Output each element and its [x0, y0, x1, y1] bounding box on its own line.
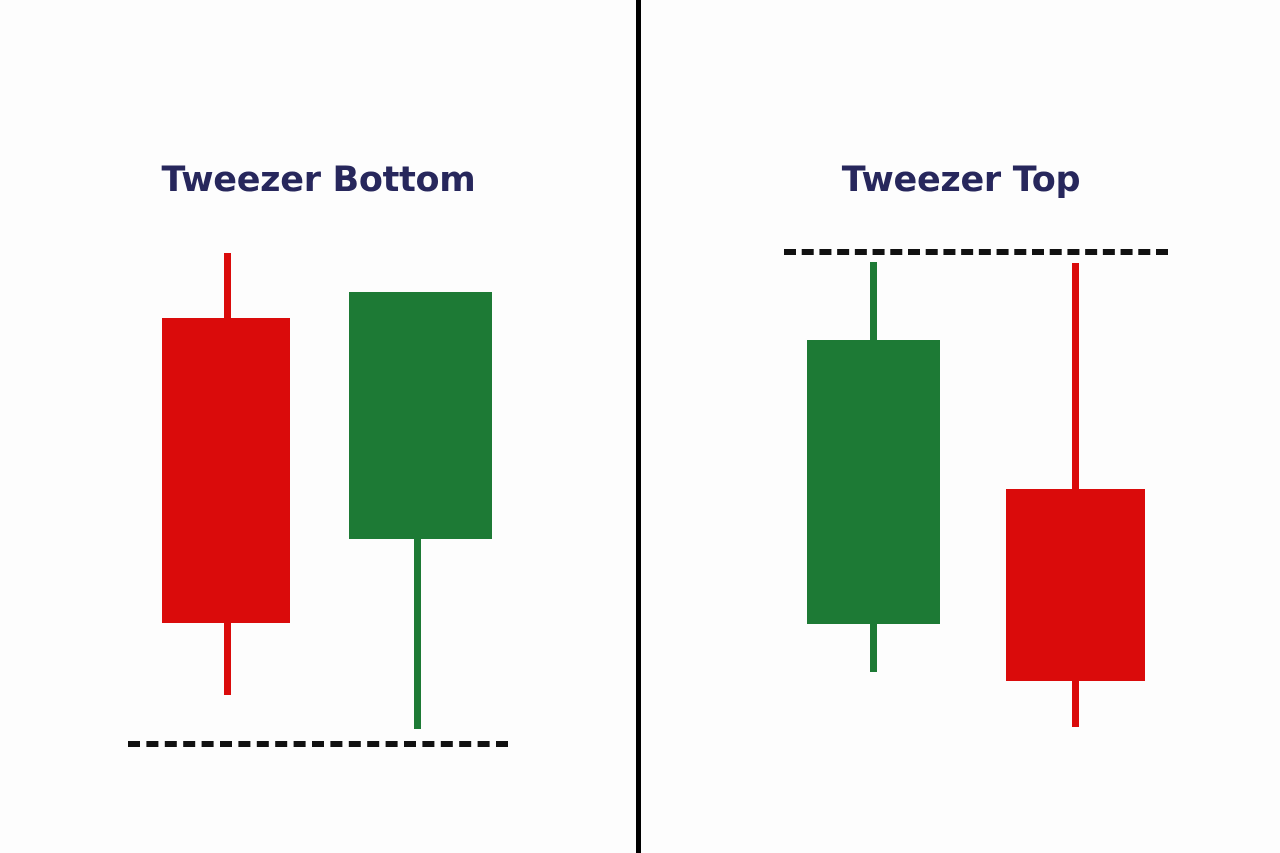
resistance-level-dashed-line	[784, 249, 1168, 255]
tweezer-bottom-second-candle-body	[349, 292, 492, 539]
support-level-dashed-line	[128, 741, 508, 747]
tweezer-bottom-second-candle-lower-wick	[414, 534, 421, 729]
tweezer-top-second-candle-upper-wick	[1072, 263, 1079, 493]
tweezer-bottom-first-candle-lower-wick	[224, 618, 231, 695]
page-title-tweezer-top: Tweezer Top	[642, 160, 1280, 200]
tweezer-top-second-candle-lower-wick	[1072, 677, 1079, 727]
panel-divider	[636, 0, 641, 853]
panel-tweezer-top: Tweezer Top	[642, 0, 1280, 853]
tweezer-top-first-candle-body	[807, 340, 940, 624]
diagram-canvas: Tweezer Bottom Tweezer Top	[0, 0, 1280, 853]
tweezer-top-second-candle-body	[1006, 489, 1145, 681]
tweezer-top-first-candle-lower-wick	[870, 620, 877, 672]
tweezer-top-first-candle-upper-wick	[870, 262, 877, 344]
tweezer-bottom-first-candle-upper-wick	[224, 253, 231, 322]
page-title-tweezer-bottom: Tweezer Bottom	[0, 160, 637, 200]
tweezer-bottom-first-candle-body	[162, 318, 290, 623]
panel-tweezer-bottom: Tweezer Bottom	[0, 0, 637, 853]
